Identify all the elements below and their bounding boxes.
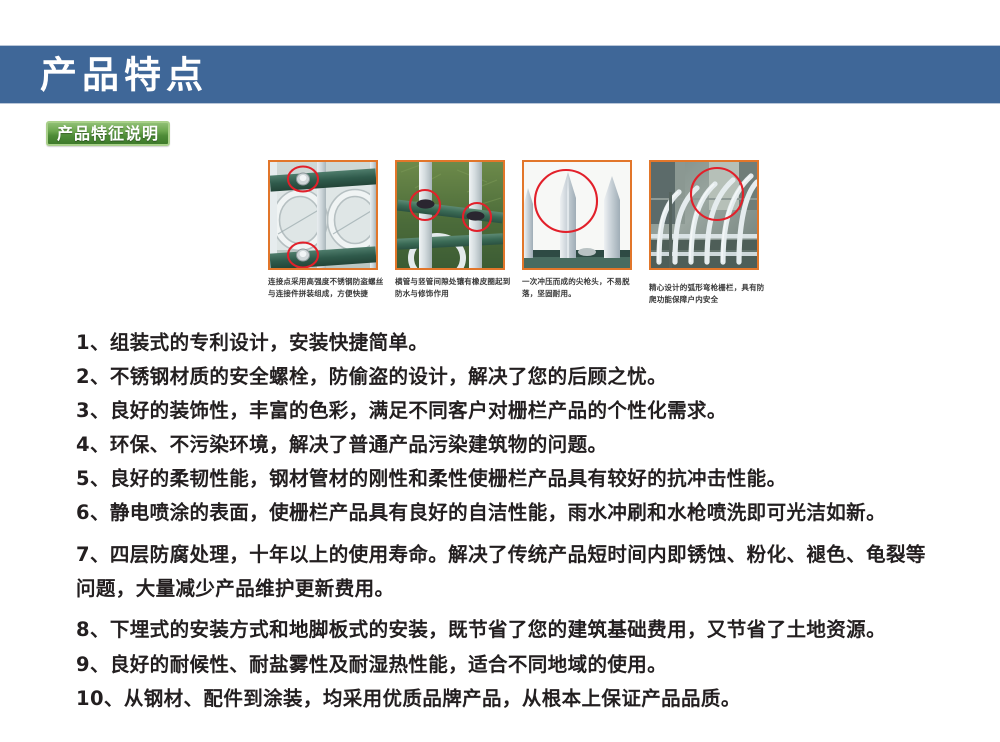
connector-bolt-photo (268, 160, 378, 270)
feature-card-3: 一次冲压而成的尖枪头，不易脱落，坚固耐用。 (522, 160, 632, 306)
feature-card-4: 精心设计的弧形弯枪栅栏，具有防爬功能保障户内安全 (649, 160, 759, 306)
feature-list-item-9: 9、良好的耐候性、耐盐雾性及耐湿热性能，适合不同地域的使用。 (76, 655, 942, 675)
curved-spear-fence-photo (649, 160, 759, 270)
feature-caption-1: 连接点采用高强度不锈钢防盗螺丝与连接件拼装组成，方便快捷 (268, 276, 386, 300)
header-band-top-rule (0, 45, 1000, 46)
feature-caption-2: 横管与竖管间隙处镶有橡皮圈起到防水与修饰作用 (395, 276, 517, 300)
feature-list-item-6: 6、静电喷涂的表面，使栅栏产品具有良好的自洁性能，雨水冲刷和水枪喷洗即可光洁如新… (76, 503, 942, 523)
feature-photo-strip: 连接点采用高强度不锈钢防盗螺丝与连接件拼装组成，方便快捷 (268, 160, 928, 306)
feature-list-item-8: 8、下埋式的安装方式和地脚板式的安装，既节省了您的建筑基础费用，又节省了土地资源… (76, 620, 942, 640)
feature-list: 1、组装式的专利设计，安装快捷简单。 2、不锈钢材质的安全螺栓，防偷盗的设计，解… (76, 333, 942, 723)
page-title: 产品特点 (40, 56, 208, 93)
section-badge: 产品特征说明 (46, 121, 170, 146)
feature-list-item-2: 2、不锈钢材质的安全螺栓，防偷盗的设计，解决了您的后顾之忧。 (76, 367, 942, 387)
feature-list-item-4: 4、环保、不污染环境，解决了普通产品污染建筑物的问题。 (76, 435, 942, 455)
rubber-gasket-photo (395, 160, 505, 270)
feature-list-item-5: 5、良好的柔韧性能，钢材管材的刚性和柔性使栅栏产品具有较好的抗冲击性能。 (76, 469, 942, 489)
feature-list-item-1: 1、组装式的专利设计，安装快捷简单。 (76, 333, 942, 353)
feature-list-item-10: 10、从钢材、配件到涂装，均采用优质品牌产品，从根本上保证产品品质。 (76, 689, 942, 709)
feature-list-item-7: 7、四层防腐处理，十年以上的使用寿命。解决了传统产品短时间内即锈蚀、粉化、褪色、… (76, 538, 942, 606)
feature-card-2: 横管与竖管间隙处镶有橡皮圈起到防水与修饰作用 (395, 160, 505, 306)
feature-caption-4: 精心设计的弧形弯枪栅栏，具有防爬功能保障户内安全 (649, 282, 771, 306)
feature-caption-3: 一次冲压而成的尖枪头，不易脱落，坚固耐用。 (522, 276, 644, 300)
header-band-bottom-rule (0, 103, 1000, 104)
feature-card-1: 连接点采用高强度不锈钢防盗螺丝与连接件拼装组成，方便快捷 (268, 160, 378, 306)
feature-list-item-3: 3、良好的装饰性，丰富的色彩，满足不同客户对栅栏产品的个性化需求。 (76, 401, 942, 421)
spear-tip-photo (522, 160, 632, 270)
page-header-band: 产品特点 (0, 46, 1000, 103)
section-badge-label: 产品特征说明 (57, 126, 159, 142)
